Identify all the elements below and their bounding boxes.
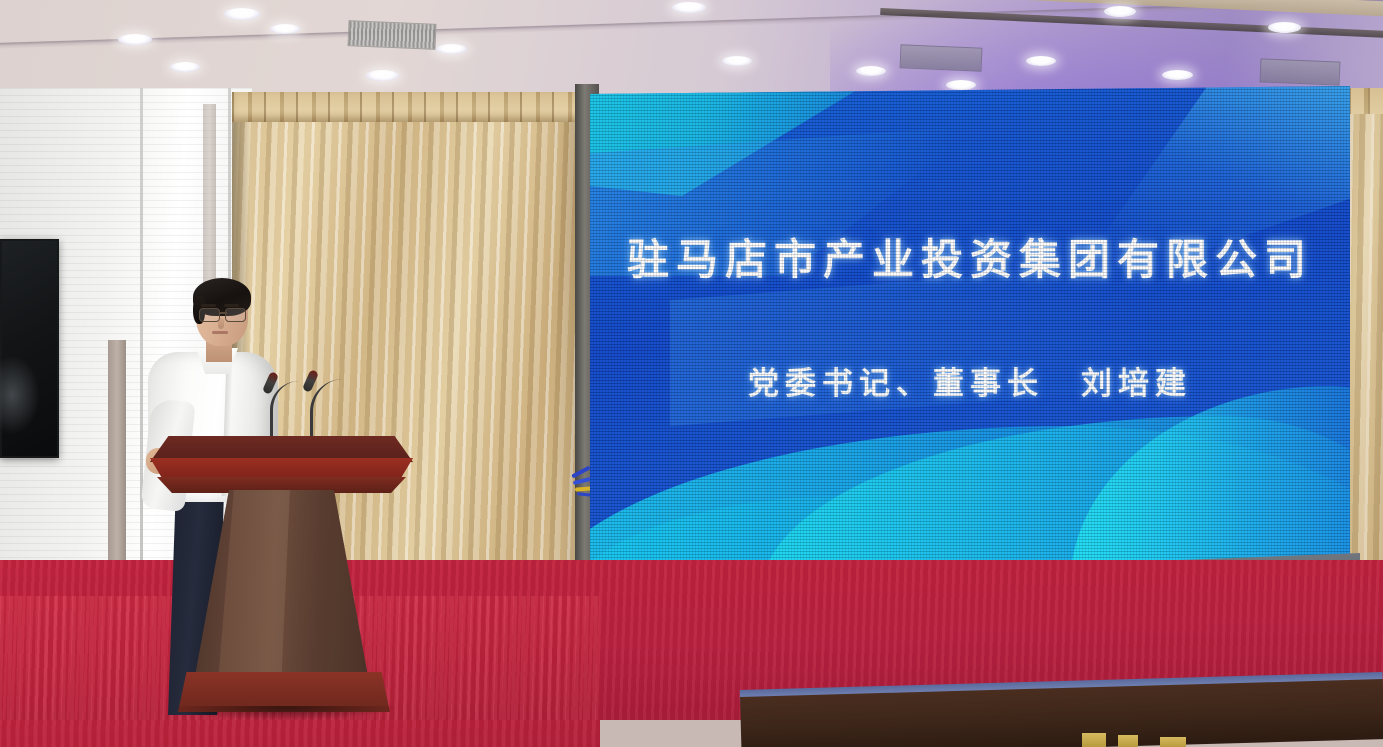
downlight-icon-4 xyxy=(436,44,467,54)
speaker-glasses-left-lens xyxy=(199,308,220,322)
cable-yellow xyxy=(575,486,592,491)
speaker-glasses-bridge xyxy=(219,312,227,314)
conference-hall-photo: 驻马店市产业投资集团有限公司 党委书记、董事长 刘培建 xyxy=(0,0,1383,747)
downlight-icon-6 xyxy=(672,2,706,13)
stage-brass-plate-2 xyxy=(1160,737,1186,747)
screen-subtitle: 党委书记、董事长 刘培建 xyxy=(590,358,1350,403)
downlight-icon-11 xyxy=(856,66,886,76)
cable-blue-b xyxy=(573,477,591,485)
downlight-icon-7 xyxy=(722,56,752,66)
downlight-icon-0 xyxy=(118,34,152,45)
downlight-icon-9 xyxy=(1162,70,1193,80)
curtain-valance-left xyxy=(232,92,592,122)
hvac-vent-icon-2 xyxy=(1260,58,1341,85)
downlight-icon-1 xyxy=(170,62,200,72)
podium-floor-shadow xyxy=(172,706,398,720)
downlight-icon-8 xyxy=(1104,6,1136,17)
podium-front-band xyxy=(150,458,413,480)
hvac-vent-icon-0 xyxy=(347,20,436,50)
downlight-icon-3 xyxy=(366,70,399,81)
downlight-icon-10 xyxy=(1268,22,1301,33)
speaker-eyebrow-left xyxy=(201,304,216,307)
downlight-icon-12 xyxy=(1026,56,1056,66)
stage-brass-plate-0 xyxy=(1082,733,1106,747)
downlight-icon-5 xyxy=(270,24,300,34)
speaker-nose xyxy=(218,318,224,329)
downlight-icon-2 xyxy=(224,8,260,20)
led-display-screen: 驻马店市产业投资集团有限公司 党委书记、董事长 刘培建 xyxy=(590,86,1350,588)
cable-blue-c xyxy=(577,492,592,497)
speaker-eyebrow-right xyxy=(224,304,239,307)
speaker-glasses-right-lens xyxy=(225,308,246,322)
speaker-mouth xyxy=(212,331,228,334)
wall-pillar-upper xyxy=(203,104,216,286)
tv-reflection xyxy=(0,355,40,435)
stage-brass-plate-1 xyxy=(1118,735,1138,747)
screen-title: 驻马店市产业投资集团有限公司 xyxy=(590,226,1350,287)
hvac-vent-icon-1 xyxy=(900,44,983,71)
downlight-icon-13 xyxy=(946,80,976,90)
